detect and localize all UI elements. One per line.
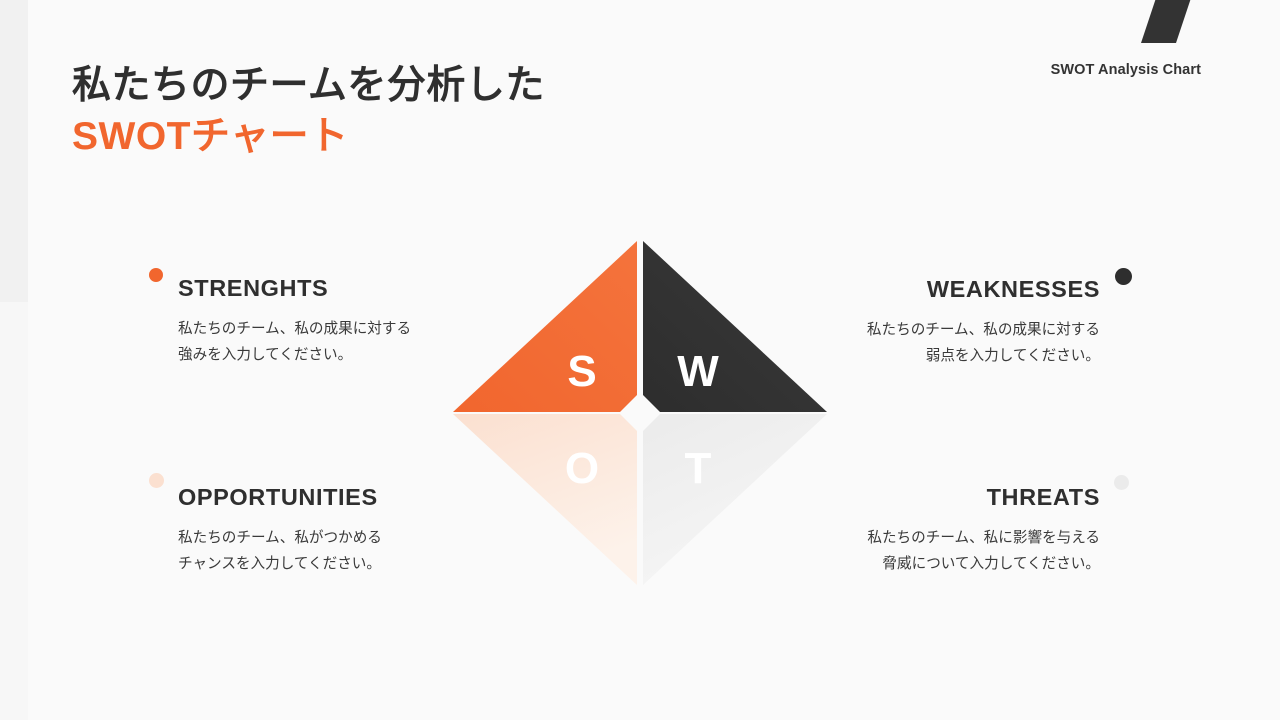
bullet-dot-opportunities [149,473,164,488]
swot-diamond-diagram: S W O T [452,240,828,586]
page-title-line-2: SWOTチャート [72,111,692,162]
bullet-dot-threats [1114,475,1129,490]
page-title: 私たちのチームを分析した SWOTチャート [72,60,692,163]
bullet-dot-strengths [149,268,163,282]
quadrant-body-strengths: 私たちのチーム、私の成果に対する 強みを入力してください。 [178,317,411,369]
quadrant-body-threats: 私たちのチーム、私に影響を与える 脅威について入力してください。 [867,526,1100,578]
quadrant-heading-opportunities: OPPORTUNITIES [178,485,382,511]
page-title-line-1: 私たちのチームを分析した [72,60,692,111]
left-edge-strip-lower [0,302,28,720]
bullet-dot-weaknesses [1115,268,1132,285]
diamond-quadrant-weaknesses[interactable]: W [643,241,827,412]
left-edge-strip-upper [0,0,28,302]
diamond-letter-w: W [677,347,719,396]
quadrant-heading-threats: THREATS [867,485,1100,511]
slide-canvas: SWOT Analysis Chart 私たちのチームを分析した SWOTチャー… [0,0,1280,720]
quadrant-text-weaknesses: WEAKNESSES 私たちのチーム、私の成果に対する 弱点を入力してください。 [867,277,1100,370]
diamond-quadrant-strengths[interactable]: S [453,241,637,412]
diamond-letter-t: T [685,444,712,493]
diamond-letter-s: S [567,347,596,396]
quadrant-heading-weaknesses: WEAKNESSES [867,277,1100,303]
quadrant-text-threats: THREATS 私たちのチーム、私に影響を与える 脅威について入力してください。 [867,485,1100,578]
quadrant-body-opportunities: 私たちのチーム、私がつかめる チャンスを入力してください。 [178,526,382,578]
quadrant-body-weaknesses: 私たちのチーム、私の成果に対する 弱点を入力してください。 [867,318,1100,370]
corner-slash-accent [1141,0,1191,43]
quadrant-text-strengths: STRENGHTS 私たちのチーム、私の成果に対する 強みを入力してください。 [178,276,411,369]
quadrant-heading-strengths: STRENGHTS [178,276,411,302]
diamond-quadrant-opportunities[interactable]: O [453,414,637,585]
brand-label: SWOT Analysis Chart [1051,62,1201,78]
diamond-quadrant-threats[interactable]: T [643,414,827,585]
diamond-letter-o: O [565,444,599,493]
quadrant-text-opportunities: OPPORTUNITIES 私たちのチーム、私がつかめる チャンスを入力してくだ… [178,485,382,578]
